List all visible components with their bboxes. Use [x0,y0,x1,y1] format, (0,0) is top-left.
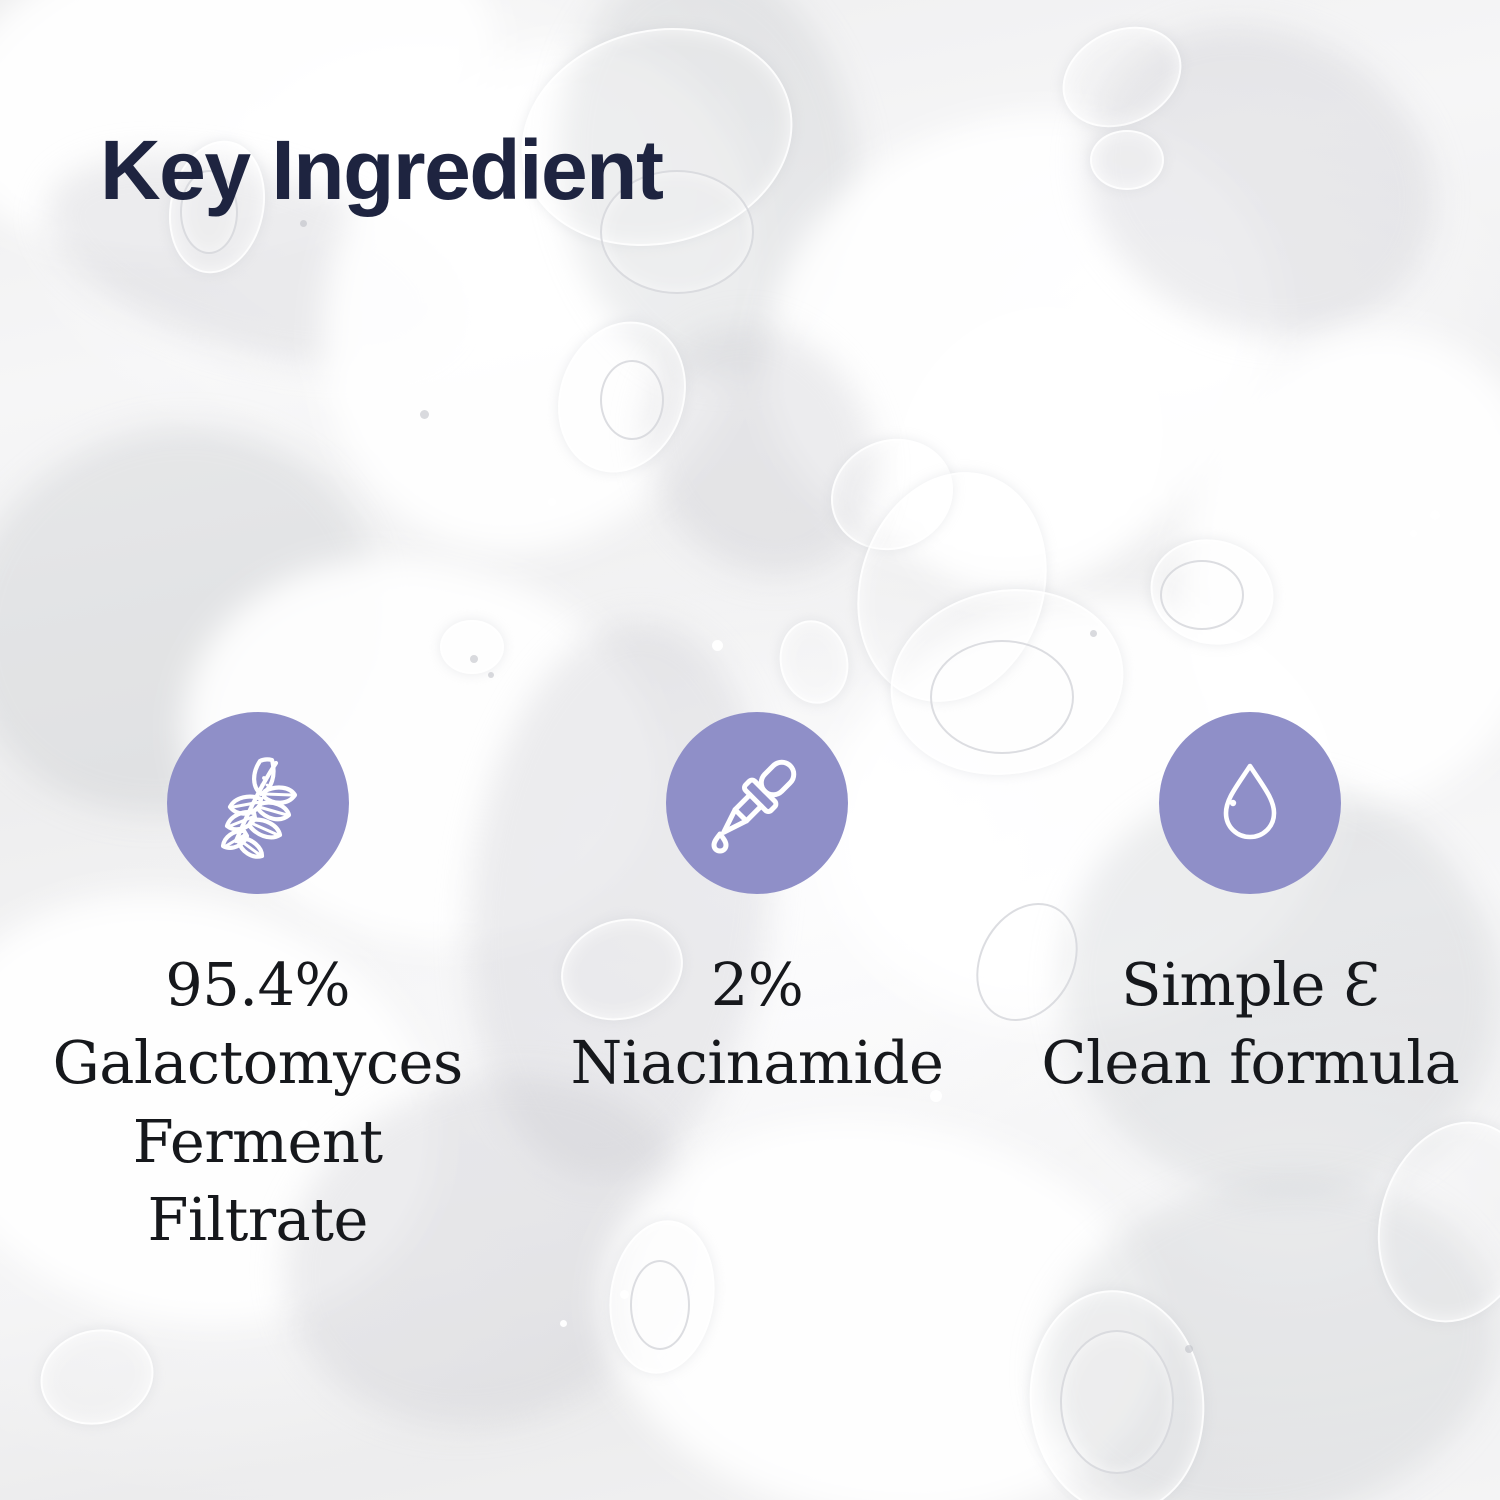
page-title: Key Ingredient [100,128,662,212]
feature-label-clean-formula: Simple Ɛ Clean formula [1041,946,1459,1103]
dropper-pipette-icon [704,750,810,856]
leaf-branch-icon [202,747,314,859]
feature-item-galactomyces: 95.4% Galactomyces Ferment Filtrate [8,712,507,1260]
icon-circle-clean-formula [1159,712,1341,894]
feature-label-galactomyces: 95.4% Galactomyces Ferment Filtrate [53,946,463,1260]
feature-list: 95.4% Galactomyces Ferment Filtrate [0,712,1500,1260]
feature-label-niacinamide: 2% Niacinamide [571,946,944,1103]
water-droplet-icon [1202,755,1298,851]
icon-circle-niacinamide [666,712,848,894]
key-ingredient-infographic: Key Ingredient [0,0,1500,1500]
icon-circle-galactomyces [167,712,349,894]
feature-item-niacinamide: 2% Niacinamide [507,712,1006,1260]
feature-item-clean-formula: Simple Ɛ Clean formula [1001,712,1500,1260]
